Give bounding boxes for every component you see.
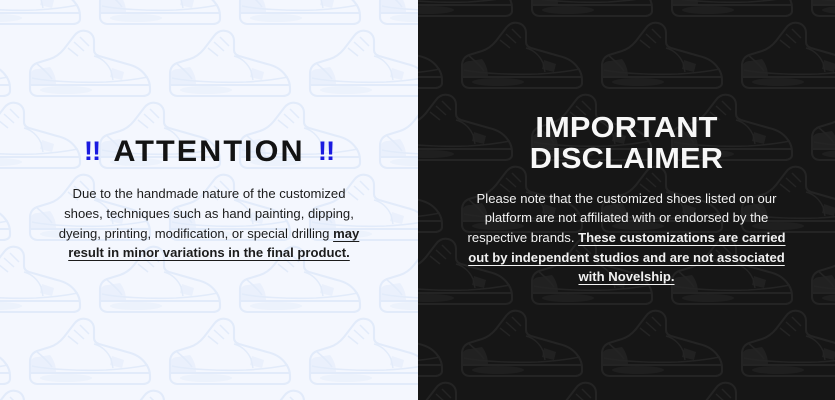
- disclaimer-heading: IMPORTANT DISCLAIMER: [442, 113, 812, 174]
- exclamation-marks-left-icon: !!: [84, 136, 100, 166]
- attention-heading: !!ATTENTION!!: [31, 137, 388, 167]
- attention-heading-text: ATTENTION: [113, 135, 304, 168]
- dual-disclaimer-banner: !!ATTENTION!! Due to the handmade nature…: [0, 0, 835, 400]
- exclamation-marks-right-icon: !!: [318, 136, 334, 166]
- disclaimer-content: IMPORTANT DISCLAIMER Please note that th…: [418, 113, 835, 287]
- disclaimer-panel: IMPORTANT DISCLAIMER Please note that th…: [418, 0, 835, 400]
- attention-body: Due to the handmade nature of the custom…: [54, 184, 364, 264]
- disclaimer-heading-line1: IMPORTANT: [442, 113, 812, 144]
- attention-body-normal: Due to the handmade nature of the custom…: [59, 186, 354, 241]
- attention-panel: !!ATTENTION!! Due to the handmade nature…: [0, 0, 418, 400]
- disclaimer-body: Please note that the customized shoes li…: [462, 189, 792, 287]
- disclaimer-heading-line2: DISCLAIMER: [442, 144, 812, 175]
- attention-content: !!ATTENTION!! Due to the handmade nature…: [0, 137, 418, 264]
